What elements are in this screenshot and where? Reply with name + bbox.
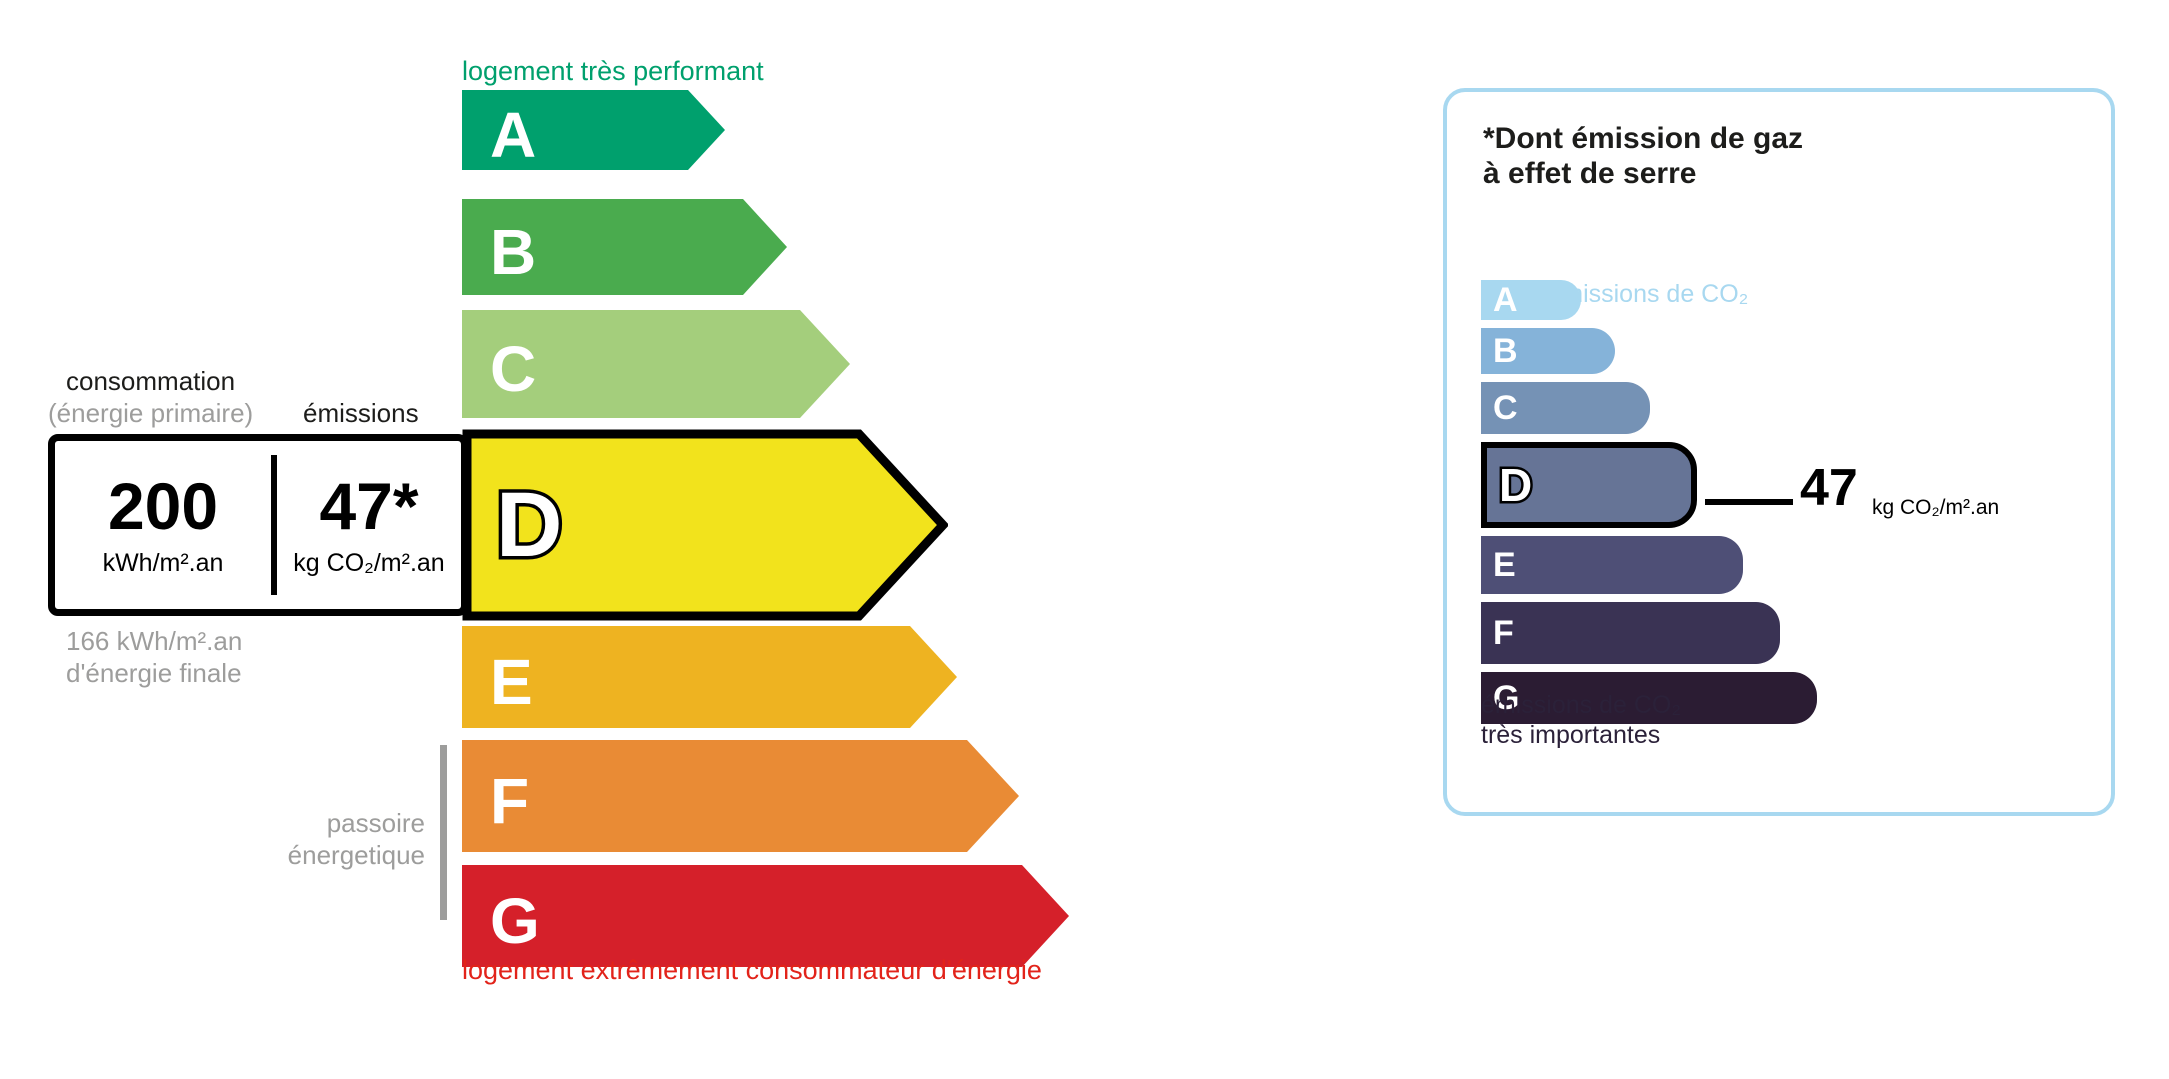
- energy-arrow-c: C: [462, 315, 860, 423]
- co2-bottom-line-2: très importantes: [1481, 720, 1681, 750]
- passoire-line-2: énergetique: [250, 840, 425, 872]
- co2-bar-letter-c: C: [1493, 391, 1518, 425]
- passoire-label: passoire énergetique: [250, 808, 425, 871]
- energy-arrow-d: D: [462, 434, 948, 616]
- co2-bar-letter-a: A: [1493, 283, 1518, 317]
- co2-bar-shape-f: F: [1481, 602, 1780, 664]
- co2-bar-letter-b: B: [1493, 334, 1518, 368]
- energy-arrow-letter-a: A: [490, 103, 536, 167]
- co2-bar-f: F: [1481, 602, 1780, 664]
- energy-unit: kWh/m².an: [103, 549, 224, 578]
- energy-arrow-letter-b: B: [490, 220, 536, 284]
- co2-bar-a: A: [1481, 280, 1581, 320]
- energy-performance-scale: logement très performant ABCDEFG logemen…: [0, 0, 1400, 1079]
- energy-arrow-letter-e: E: [490, 650, 533, 714]
- scale-bottom-label: logement extrêmement consommateur d'éner…: [462, 955, 1042, 986]
- co2-bar-shape-e: E: [1481, 536, 1743, 594]
- label-consommation: consommation: [66, 366, 235, 397]
- label-energie-primaire: (énergie primaire): [48, 398, 253, 429]
- energy-consumption-cell: 200 kWh/m².an: [55, 441, 271, 609]
- label-emissions: émissions: [303, 398, 419, 429]
- energy-arrow-a: A: [462, 95, 735, 175]
- energy-arrow-letter-d: D: [496, 479, 562, 571]
- emission-unit: kg CO₂/m².an: [293, 549, 444, 578]
- arrow-shape-f: [462, 740, 1029, 862]
- co2-bar-letter-d: D: [1499, 462, 1532, 508]
- co2-bar-d: D: [1481, 442, 1697, 528]
- co2-bottom-label: émissions de CO₂ très importantes: [1481, 690, 1681, 750]
- arrow-shape-e: [462, 626, 967, 738]
- co2-bar-e: E: [1481, 536, 1743, 594]
- co2-callout-unit: kg CO₂/m².an: [1872, 497, 1999, 518]
- scale-top-label: logement très performant: [462, 56, 764, 87]
- energy-arrow-e: E: [462, 631, 967, 733]
- energy-value: 200: [108, 473, 218, 539]
- co2-bar-shape-a: A: [1481, 280, 1581, 320]
- final-energy-line-1: 166 kWh/m².an: [66, 626, 242, 658]
- co2-bar-c: C: [1481, 382, 1650, 434]
- energy-arrow-letter-f: F: [490, 769, 529, 833]
- energy-arrow-letter-c: C: [490, 337, 536, 401]
- co2-bar-shape-d: D: [1481, 442, 1697, 528]
- co2-bar-letter-e: E: [1493, 548, 1516, 582]
- co2-bar-shape-b: B: [1481, 328, 1615, 374]
- co2-bar-letter-f: F: [1493, 616, 1514, 650]
- energy-arrow-b: B: [462, 204, 797, 300]
- energy-arrow-f: F: [462, 745, 1029, 857]
- passoire-bracket: [440, 745, 447, 920]
- co2-bottom-line-1: émissions de CO₂: [1481, 690, 1681, 720]
- value-box: 200 kWh/m².an 47* kg CO₂/m².an: [48, 434, 468, 616]
- co2-title-line-2: à effet de serre: [1483, 156, 1803, 191]
- co2-bar-b: B: [1481, 328, 1615, 374]
- final-energy-line-2: d'énergie finale: [66, 658, 242, 690]
- co2-bar-shape-c: C: [1481, 382, 1650, 434]
- co2-panel-title: *Dont émission de gaz à effet de serre: [1483, 121, 1803, 192]
- emission-cell: 47* kg CO₂/m².an: [277, 441, 461, 609]
- emission-value: 47*: [319, 473, 418, 539]
- passoire-line-1: passoire: [250, 808, 425, 840]
- co2-callout-leader-line: [1705, 499, 1793, 505]
- co2-title-line-1: *Dont émission de gaz: [1483, 121, 1803, 156]
- energy-arrow-letter-g: G: [490, 889, 540, 953]
- co2-emissions-panel: *Dont émission de gaz à effet de serre p…: [1443, 88, 2115, 816]
- co2-callout-value: 47: [1800, 462, 1858, 514]
- final-energy-note: 166 kWh/m².an d'énergie finale: [66, 626, 242, 689]
